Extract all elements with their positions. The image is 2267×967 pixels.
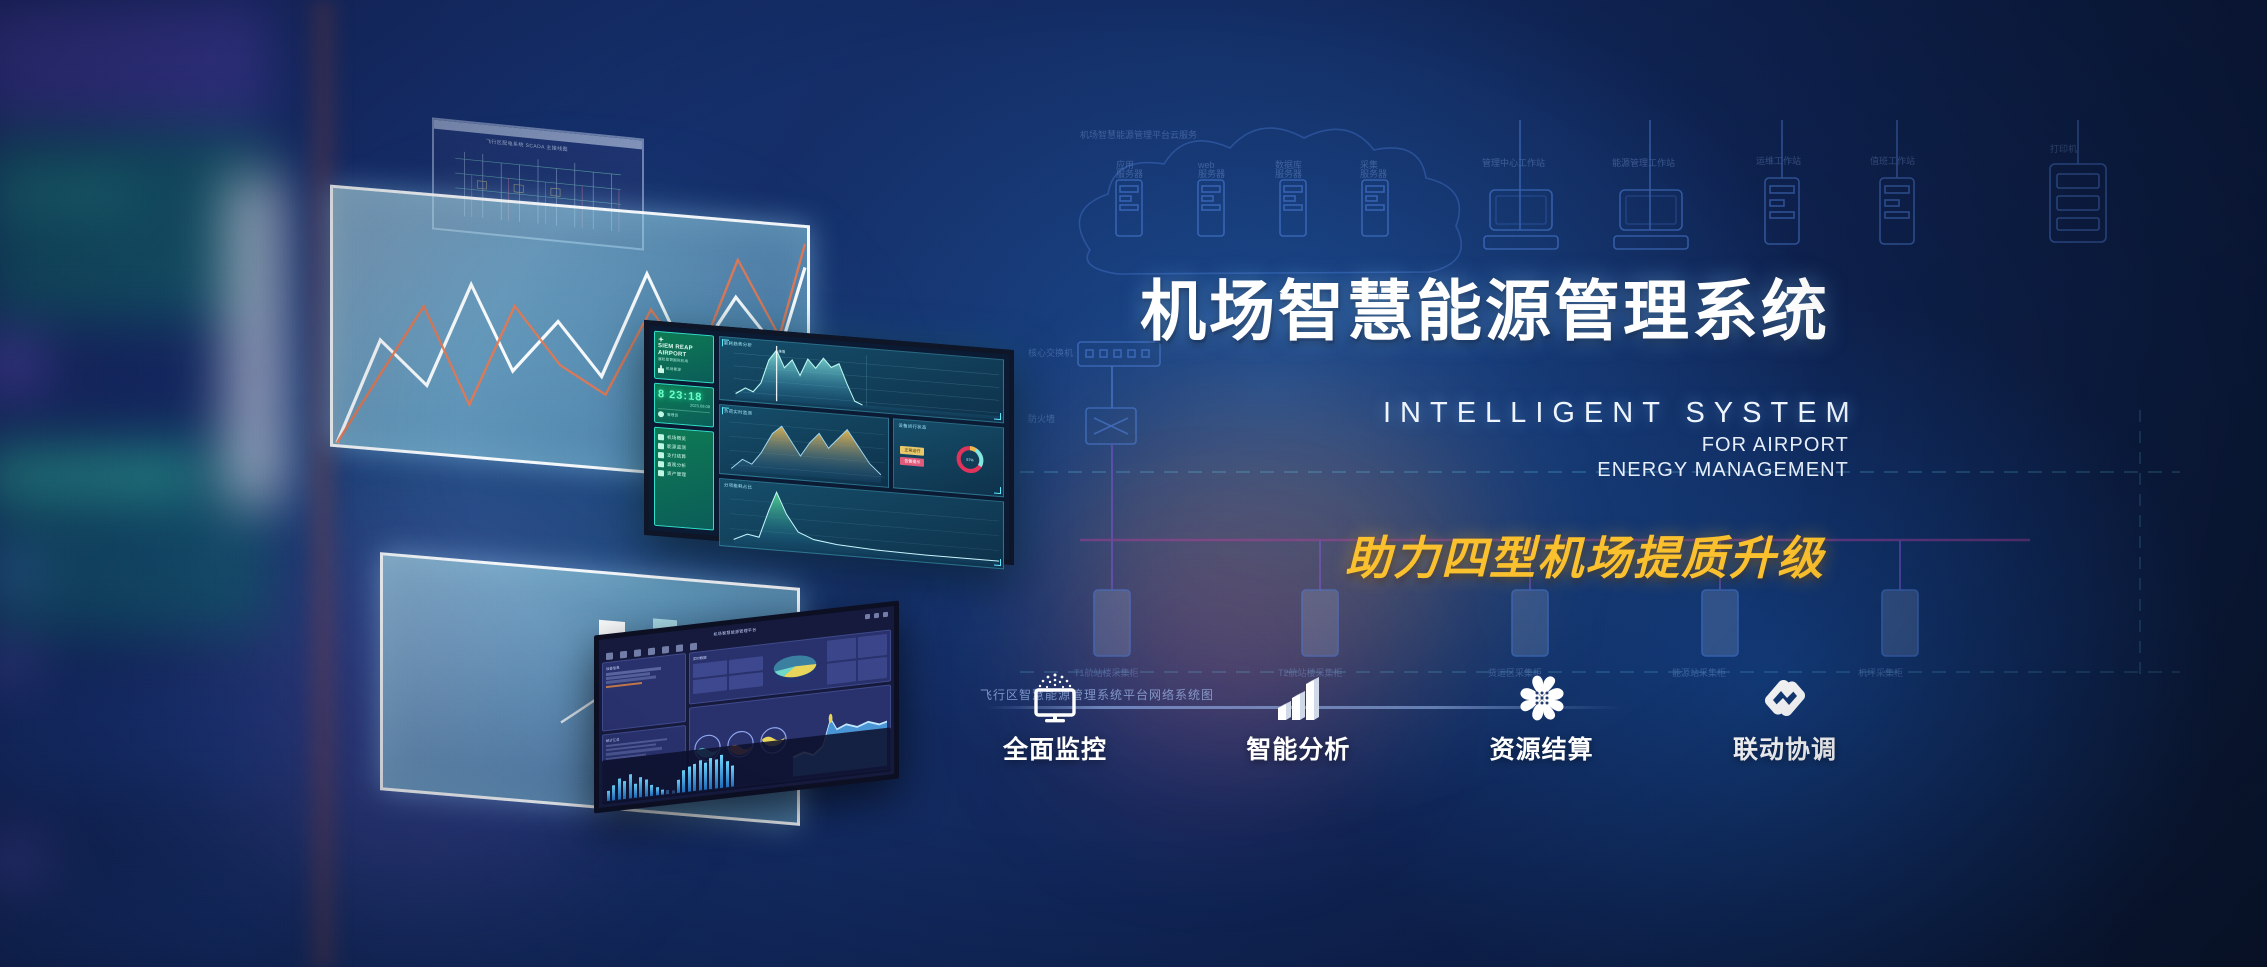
- hero-banner: 机场智慧能源管理平台云服务 应用服务器 web服务器 数据库服务器 采集服务器 …: [0, 0, 2267, 967]
- background-noise: [0, 0, 2267, 967]
